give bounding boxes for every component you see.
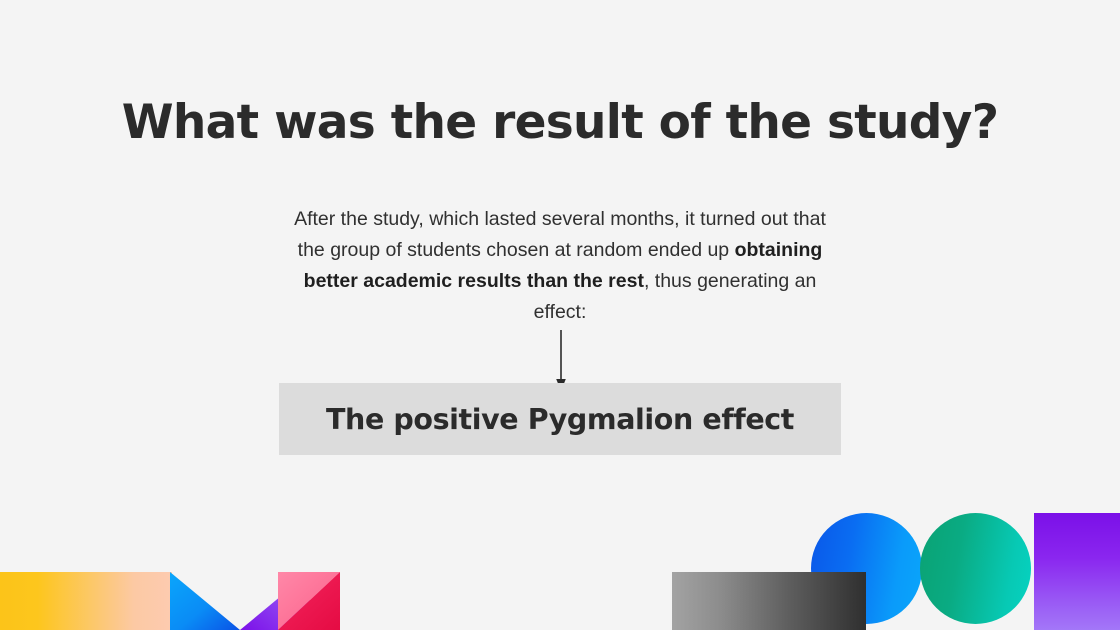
presentation-slide: What was the result of the study? After … (0, 0, 1120, 630)
page-title: What was the result of the study? (0, 97, 1120, 150)
callout-box: The positive Pygmalion effect (279, 383, 841, 455)
orange-gradient-rectangle (0, 572, 172, 630)
purple-gradient-rectangle (1034, 513, 1120, 630)
blue-triangle (170, 572, 240, 630)
gray-gradient-rectangle (672, 572, 866, 630)
green-circle (920, 513, 1031, 624)
callout-text: The positive Pygmalion effect (326, 403, 794, 436)
body-paragraph: After the study, which lasted several mo… (280, 204, 840, 328)
pink-split-square (278, 572, 340, 630)
